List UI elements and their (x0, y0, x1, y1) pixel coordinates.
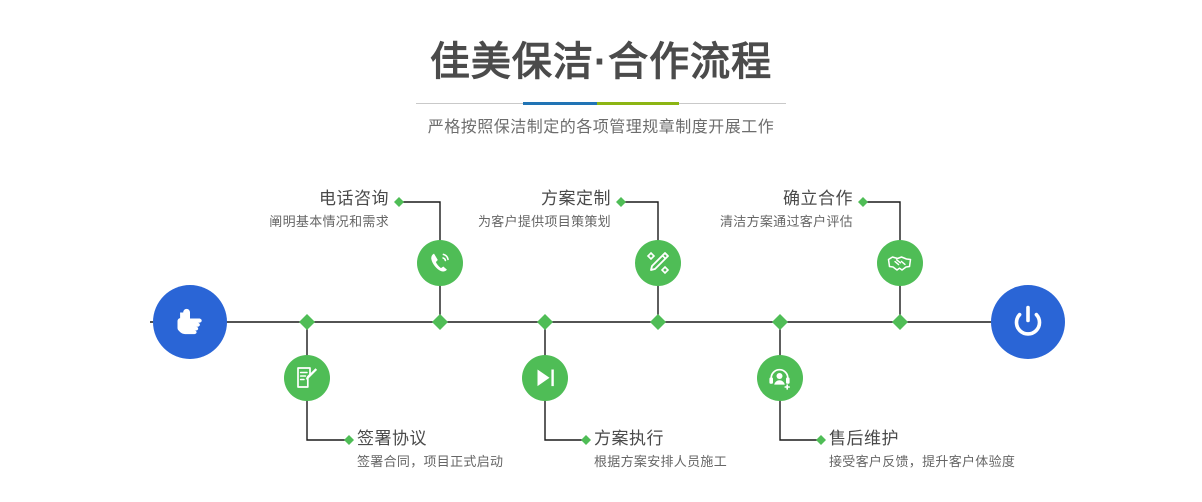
timeline-connectors (0, 0, 1202, 502)
customer-support-icon (767, 365, 793, 391)
play-execute-icon (532, 365, 558, 391)
label-diamond-plan-execution (581, 435, 591, 445)
step-label-plan-customization: 方案定制 为客户提供项目策策划 (478, 188, 611, 232)
step-title: 电话咨询 (269, 188, 389, 210)
step-icon-after-sales[interactable] (757, 355, 803, 401)
pointing-hand-icon (170, 302, 210, 342)
step-desc: 清洁方案通过客户评估 (720, 212, 853, 232)
step-title: 签署协议 (357, 428, 503, 450)
step-desc: 根据方案安排人员施工 (594, 452, 727, 472)
step-desc: 为客户提供项目策策划 (478, 212, 611, 232)
step-desc: 接受客户反馈，提升客户体验度 (829, 452, 1015, 472)
phone-call-icon (427, 250, 453, 276)
step-label-plan-execution: 方案执行 根据方案安排人员施工 (594, 428, 727, 472)
label-diamond-sign-agreement (344, 435, 354, 445)
step-title: 方案执行 (594, 428, 727, 450)
step-label-establish-cooperation: 确立合作 清洁方案通过客户评估 (720, 188, 853, 232)
pencil-ruler-icon (645, 250, 671, 276)
step-title: 确立合作 (720, 188, 853, 210)
label-diamond-after-sales (816, 435, 826, 445)
handshake-icon (887, 250, 913, 276)
step-icon-establish-cooperation[interactable] (877, 240, 923, 286)
axis-diamond-2 (432, 314, 448, 330)
document-edit-icon (294, 365, 320, 391)
axis-diamond-5 (772, 314, 788, 330)
step-icon-plan-execution[interactable] (522, 355, 568, 401)
axis-diamond-3 (537, 314, 553, 330)
label-diamond-plan-customization (616, 197, 626, 207)
step-title: 方案定制 (478, 188, 611, 210)
label-diamond-group (344, 197, 868, 445)
process-timeline: 电话咨询 阐明基本情况和需求 方案定制 为客户提供项目策策划 确立合作 清洁方案… (0, 0, 1202, 502)
power-icon (1008, 302, 1048, 342)
timeline-end-endpoint[interactable] (991, 285, 1065, 359)
axis-diamond-1 (299, 314, 315, 330)
label-diamond-establish-cooperation (858, 197, 868, 207)
step-label-sign-agreement: 签署协议 签署合同，项目正式启动 (357, 428, 503, 472)
step-label-phone-consult: 电话咨询 阐明基本情况和需求 (269, 188, 389, 232)
axis-diamond-4 (650, 314, 666, 330)
step-icon-sign-agreement[interactable] (284, 355, 330, 401)
step-title: 售后维护 (829, 428, 1015, 450)
label-diamond-phone-consult (394, 197, 404, 207)
step-desc: 阐明基本情况和需求 (269, 212, 389, 232)
step-label-after-sales: 售后维护 接受客户反馈，提升客户体验度 (829, 428, 1015, 472)
timeline-start-endpoint[interactable] (153, 285, 227, 359)
step-icon-phone-consult[interactable] (417, 240, 463, 286)
axis-diamond-6 (892, 314, 908, 330)
cooperation-process-infographic: 佳美保洁·合作流程 严格按照保洁制定的各项管理规章制度开展工作 (0, 0, 1202, 502)
step-desc: 签署合同，项目正式启动 (357, 452, 503, 472)
step-icon-plan-customization[interactable] (635, 240, 681, 286)
